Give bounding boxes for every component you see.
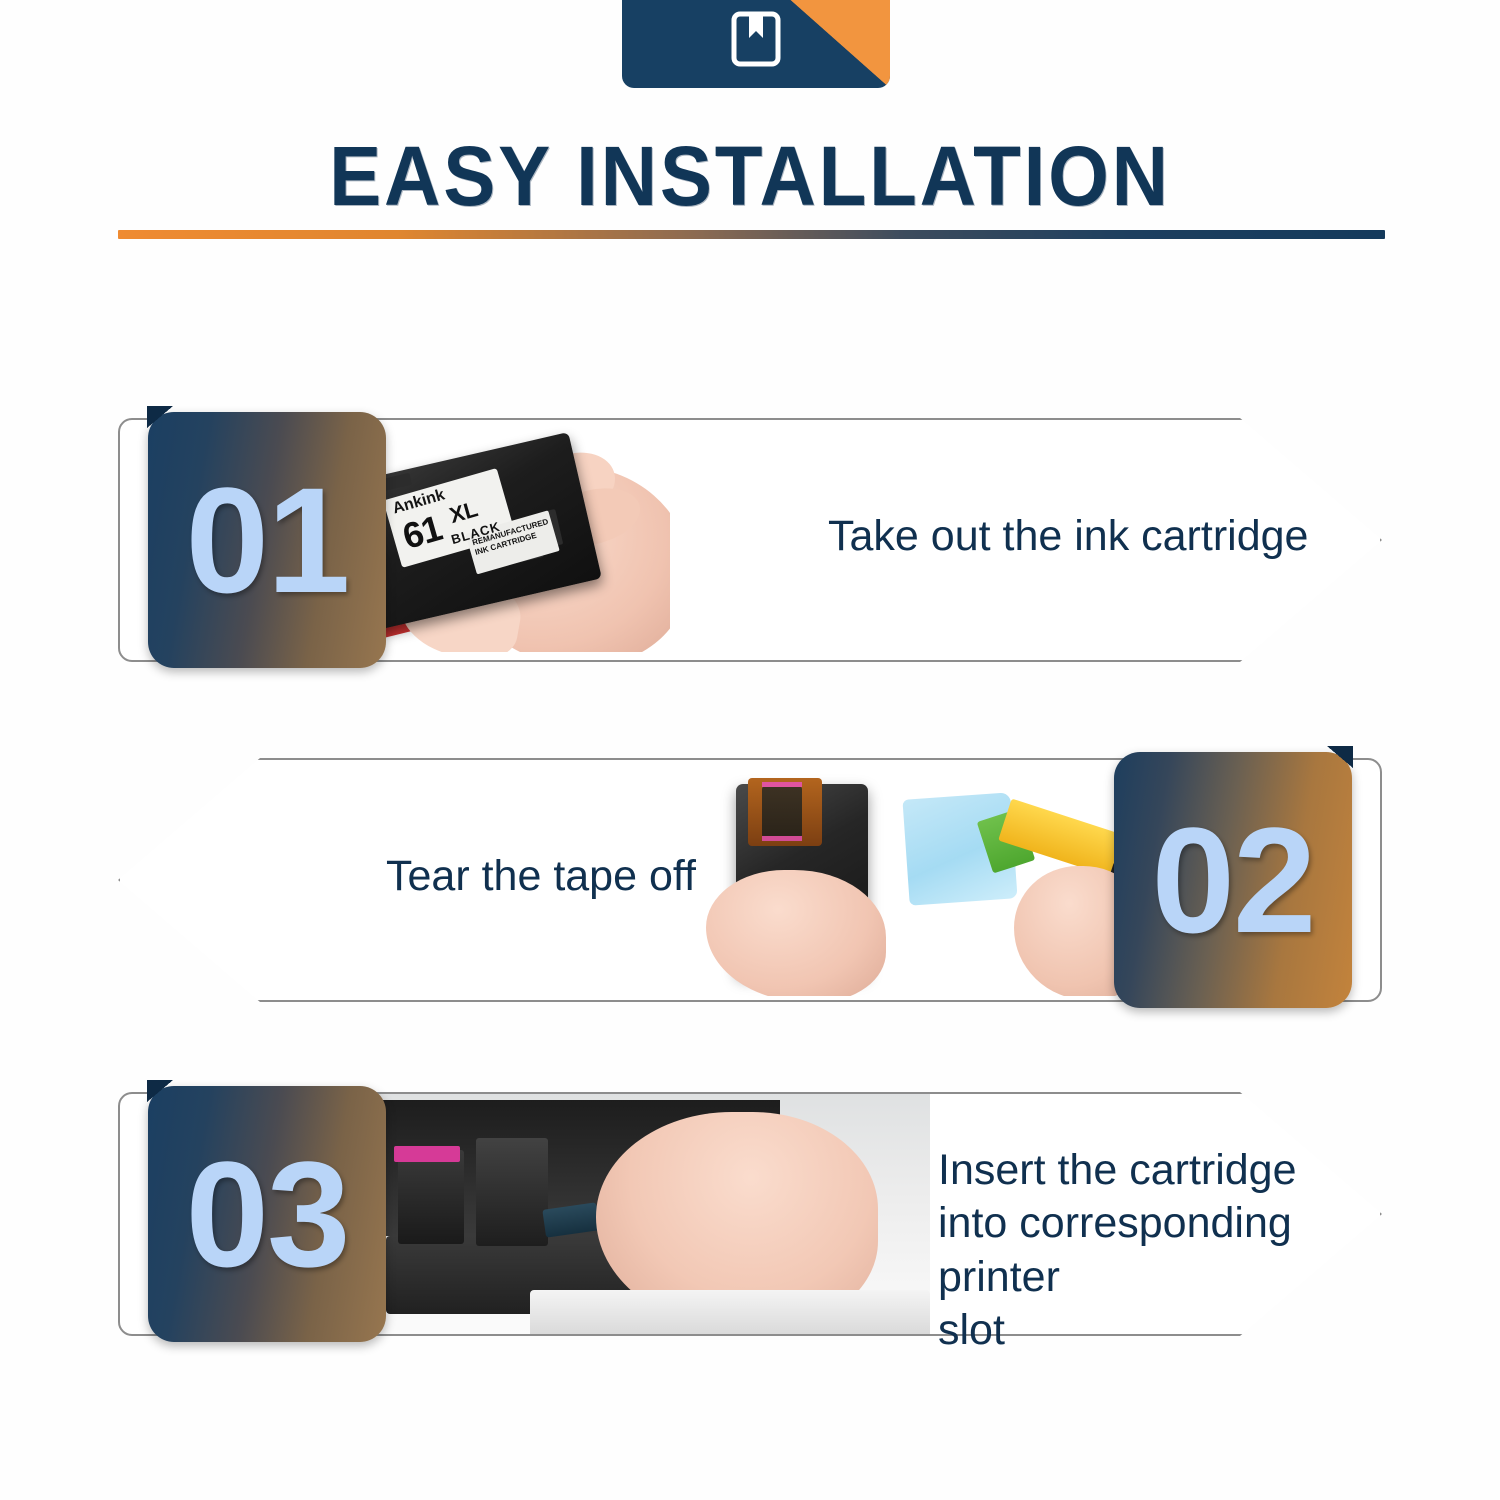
step-label-03: Insert the cartridge into corresponding … bbox=[938, 1144, 1382, 1357]
cartridge-nozzle-seal bbox=[762, 836, 802, 841]
installed-cartridge bbox=[476, 1138, 548, 1246]
printer-output-tray bbox=[530, 1290, 930, 1334]
step-number-badge-01: 01 bbox=[148, 412, 386, 668]
photo-step-01: Ankink 61 XL BLACK REMANUFACTURED INK CA… bbox=[340, 426, 670, 652]
step-row-01: Ankink 61 XL BLACK REMANUFACTURED INK CA… bbox=[118, 418, 1382, 662]
step-label-02: Tear the tape off bbox=[386, 850, 696, 903]
installed-cartridge bbox=[398, 1150, 464, 1244]
badge-accent-wedge bbox=[775, 0, 890, 88]
step-number-badge-03: 03 bbox=[148, 1086, 386, 1342]
page-title: EASY INSTALLATION bbox=[53, 128, 1448, 225]
step-number-03: 03 bbox=[148, 1086, 386, 1342]
magenta-cartridge-marker bbox=[394, 1146, 460, 1162]
step-number-02: 02 bbox=[1114, 752, 1352, 1008]
hand-holding-cartridge bbox=[706, 870, 886, 996]
title-divider bbox=[118, 230, 1385, 239]
step-label-01: Take out the ink cartridge bbox=[828, 510, 1308, 563]
book-bookmark-icon bbox=[730, 11, 782, 67]
step-row-02: 02 Tear the tape off bbox=[118, 758, 1382, 1002]
photo-step-02 bbox=[696, 762, 1166, 996]
step-number-01: 01 bbox=[148, 412, 386, 668]
step-row-03: 03 Insert the cartridge into correspondi… bbox=[118, 1092, 1382, 1336]
cartridge-nozzle-seal bbox=[762, 782, 802, 787]
header-badge bbox=[622, 0, 890, 88]
photo-step-03 bbox=[350, 1094, 930, 1334]
cartridge-nozzle bbox=[762, 786, 802, 838]
step-number-badge-02: 02 bbox=[1114, 752, 1352, 1008]
